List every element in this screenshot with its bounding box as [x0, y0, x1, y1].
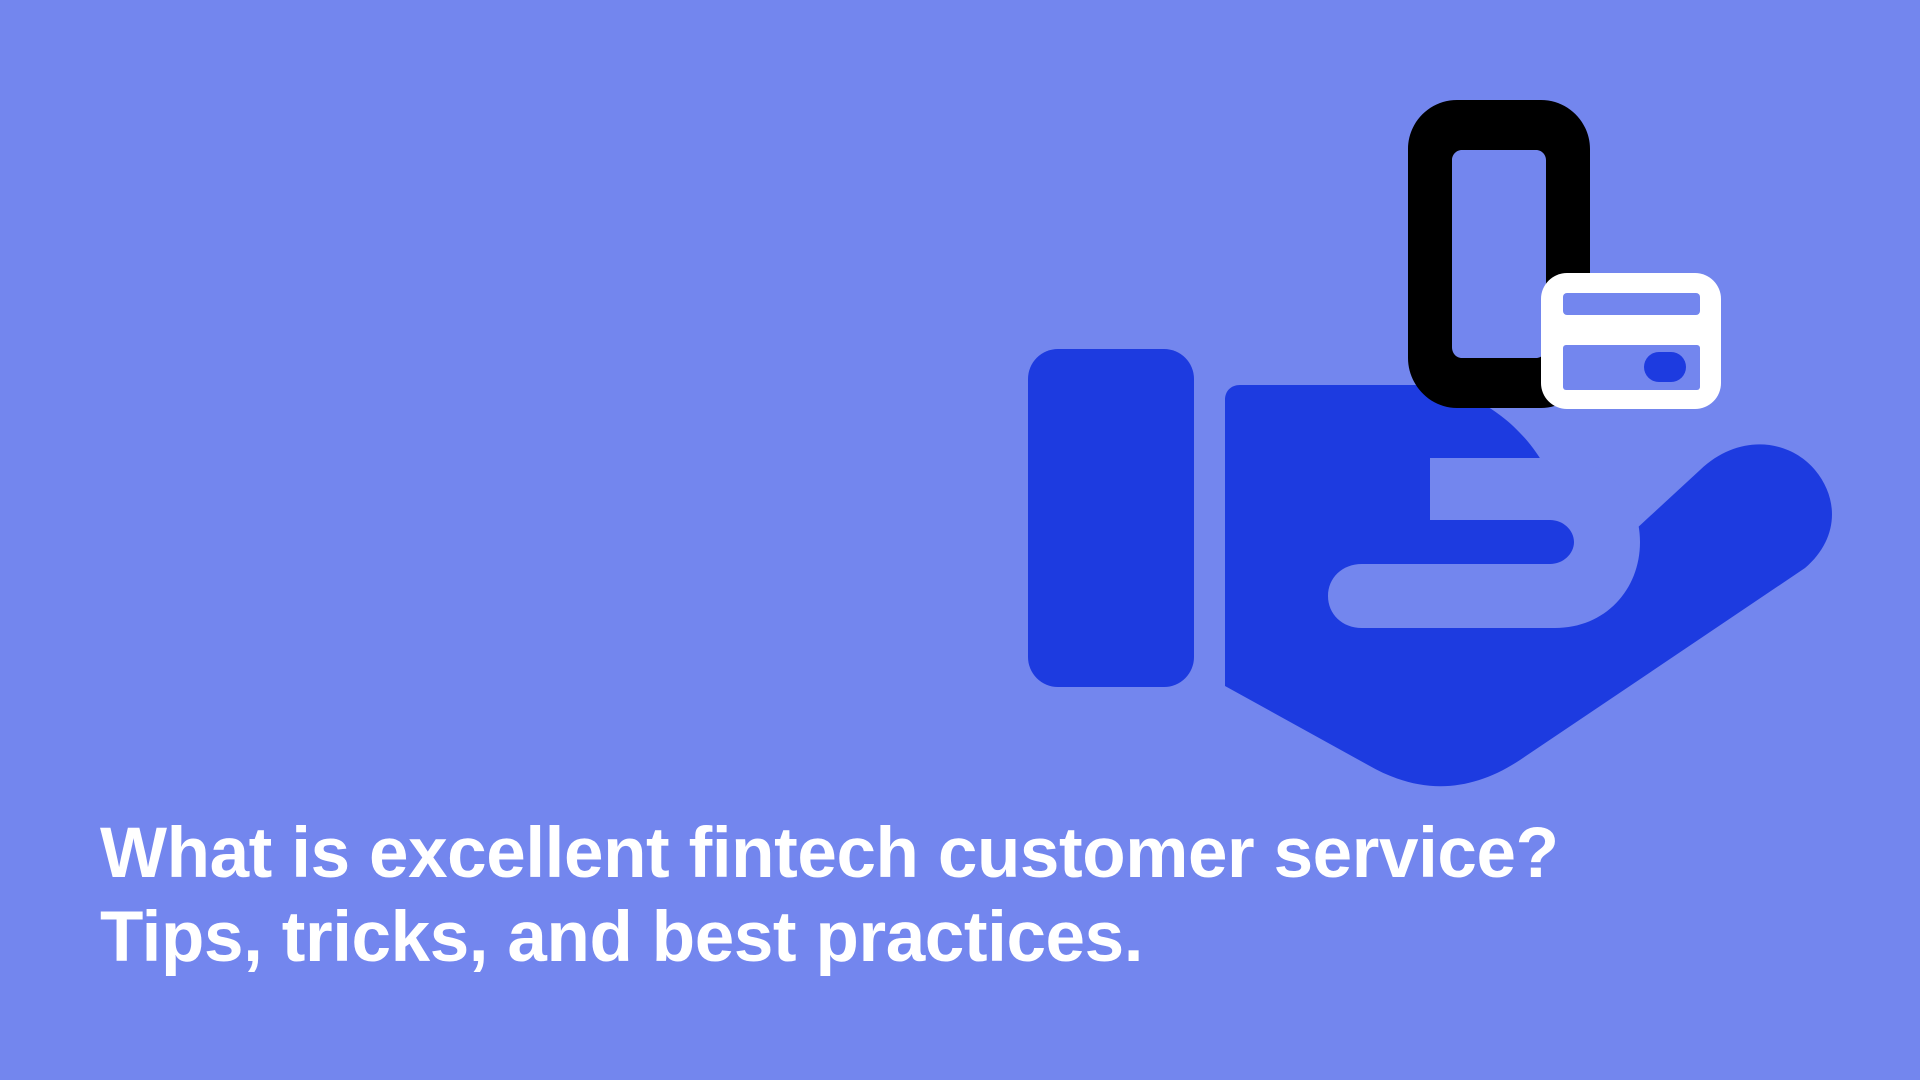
thumb-shape — [1028, 349, 1194, 687]
palm-shape — [1225, 385, 1832, 786]
card-stripe — [1563, 293, 1700, 315]
finger-gap-notch — [1328, 458, 1640, 628]
phone-shape — [1408, 100, 1590, 408]
headline-line-2: Tips, tricks, and best practices. — [100, 896, 1500, 980]
credit-card-shape — [1541, 273, 1721, 409]
hero-banner: What is excellent fintech customer servi… — [0, 0, 1920, 1080]
card-chip — [1644, 352, 1686, 382]
card-panel — [1563, 345, 1700, 390]
headline-line-1: What is excellent fintech customer servi… — [100, 812, 1500, 896]
headline: What is excellent fintech customer servi… — [100, 812, 1500, 980]
